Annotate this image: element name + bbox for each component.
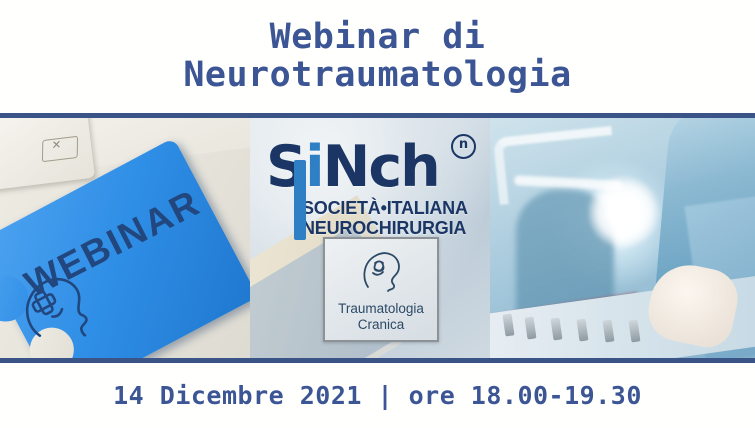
sinch-logo-subtitle-line-2: NEUROCHIRURGIA xyxy=(302,218,474,238)
surgical-light-glare xyxy=(588,176,660,248)
sinch-logo-letter-i: i xyxy=(305,134,323,200)
registered-n-icon: n xyxy=(451,134,476,159)
sinch-logo-i-stem xyxy=(294,160,306,240)
event-date-time: 14 Dicembre 2021 | ore 18.00-19.30 xyxy=(113,381,642,410)
sinch-logo: SiNch n SOCIETÀ•ITALIANA NEUROCHIRURGIA xyxy=(266,136,474,242)
webinar-puzzle-photo: WEBINAR xyxy=(0,118,250,358)
poster-title-block: Webinar di Neurotraumatologia xyxy=(0,0,755,113)
badge-label-line-1: Traumatologia xyxy=(338,301,424,317)
operating-room-photo xyxy=(490,118,755,358)
traumatologia-cranica-badge: Traumatologia Cranica xyxy=(323,237,439,342)
poster-footer: 14 Dicembre 2021 | ore 18.00-19.30 xyxy=(0,363,755,428)
surgical-instruments xyxy=(500,314,680,344)
poster-title-line-2: Neurotraumatologia xyxy=(183,57,571,95)
delete-key-icon xyxy=(42,136,78,163)
poster-image-band: WEBINAR xyxy=(0,118,755,358)
poster-title-line-1: Webinar di xyxy=(270,19,486,57)
webinar-poster: Webinar di Neurotraumatologia xyxy=(0,0,755,428)
head-profile-brain-icon xyxy=(359,247,403,298)
sinch-logo-subtitle-line-1: SOCIETÀ•ITALIANA xyxy=(302,198,474,218)
badge-label-line-2: Cranica xyxy=(338,317,424,333)
traumatologia-cranica-label: Traumatologia Cranica xyxy=(338,301,424,333)
sinch-logo-letters-nch: Nch xyxy=(323,134,439,200)
